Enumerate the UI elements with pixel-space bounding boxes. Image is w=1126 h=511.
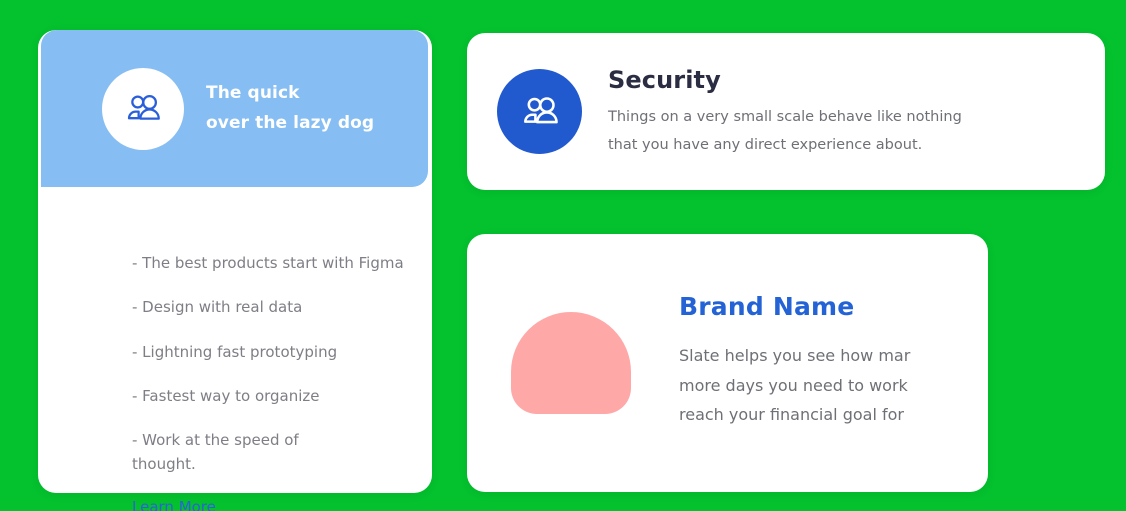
hero-text: The quick over the lazy dog (206, 79, 374, 138)
security-description: Things on a very small scale behave like… (608, 104, 962, 159)
security-description-line-1: Things on a very small scale behave like… (608, 104, 962, 132)
list-item: - Fastest way to organize (132, 384, 344, 408)
list-item: - Design with real data (132, 295, 344, 319)
learn-more-link[interactable]: Learn More (132, 498, 216, 511)
list-item: - The best products start with Figma (132, 251, 432, 275)
brand-description-line-2: more days you need to work (679, 371, 910, 401)
list-item: - Work at the speed of thought. (132, 428, 344, 477)
hero-line-1: The quick (206, 79, 374, 108)
hero-banner: The quick over the lazy dog (41, 30, 428, 187)
brand-title: Brand Name (679, 292, 910, 321)
page-canvas: - The best products start with Figma - D… (0, 0, 1126, 511)
security-card: Security Things on a very small scale be… (467, 33, 1105, 190)
security-description-line-2: that you have any direct experience abou… (608, 132, 962, 160)
brand-description-line-1: Slate helps you see how mar (679, 341, 910, 371)
people-icon (122, 88, 164, 130)
feature-list: - The best products start with Figma - D… (132, 251, 432, 511)
brand-description-line-3: reach your financial goal for (679, 400, 910, 430)
brand-description: Slate helps you see how mar more days yo… (679, 341, 910, 430)
avatar (497, 69, 582, 154)
list-item: - Lightning fast prototyping (132, 340, 344, 364)
brand-card: Brand Name Slate helps you see how mar m… (467, 234, 988, 492)
brand-body: Brand Name Slate helps you see how mar m… (679, 292, 910, 434)
people-icon (518, 90, 562, 134)
avatar (102, 68, 184, 150)
dome-blob-shape (511, 312, 631, 414)
security-title: Security (608, 66, 962, 94)
security-body: Security Things on a very small scale be… (608, 64, 962, 159)
hero-line-2: over the lazy dog (206, 109, 374, 138)
